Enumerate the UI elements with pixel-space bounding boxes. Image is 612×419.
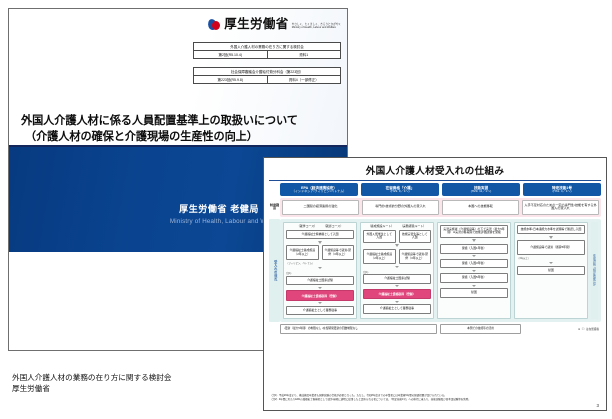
meeting-name-1: 外国人介護人材の業務の在り方に関する検討会	[194, 43, 341, 51]
purpose-row: 制度趣旨 二国間の経済連携の強化 専門的・技術的分野の外国人の受入れ 本国への技…	[269, 198, 601, 217]
scheme-subtitle: (H29. 9／1～)	[362, 190, 438, 194]
table-row: 社会保障審議会介護給付費分科会（第223回）	[194, 68, 341, 76]
purpose-row-label: 制度趣旨	[269, 198, 280, 217]
purpose-cell-kaigo-visa: 専門的・技術的分野の外国人の受入れ	[362, 200, 439, 215]
meeting-name-2: 社会保障審議会介護給付費分科会（第223回）	[194, 68, 341, 76]
page-title-line2: （介護人材の確保と介護現場の生産性の向上）	[21, 130, 337, 146]
flow-row: 受入れの流れ （就学コース） （就労コース） 介護福祉士候補者として入国 介護福…	[269, 219, 601, 323]
table-row: 第2回(R5.10.4) 資料1	[194, 51, 341, 59]
epa-course-work: （就労コース）	[323, 225, 343, 228]
meeting-meta-table-2: 社会保障審議会介護給付費分科会（第223回） 第223回(R5.9.8) 資料4…	[193, 67, 341, 84]
ssw-entry-box: 技能水準・日本語能力水準を試験等で確認し入国	[517, 225, 585, 235]
kaigo-note-ref: (注1)	[363, 270, 368, 274]
arrow-down-icon	[318, 287, 322, 289]
meeting-meta-table-1: 外国人介護人材の業務の在り方に関する検討会 第2回(R5.10.4) 資料1	[193, 42, 341, 59]
scheme-column-kaigo-visa[interactable]: 在留資格「介護」 (H29. 9／1～)	[361, 183, 439, 196]
arrow-down-icon	[395, 266, 399, 268]
mhlw-logo-en-line2: Ministry of Health, Labour and Welfare	[292, 26, 336, 29]
epa-national-exam: 介護福祉士国家試験	[286, 276, 354, 286]
diagram-body: EPA（経済連携協定） （インドネシア・フィリピン・ベトナム） 在留資格「介護」…	[269, 183, 601, 390]
epa-paths: 介護福祉士養成施設（2年以上） 介護施設等で就労・研修（3年以上）	[286, 245, 354, 260]
epa-facility-work: 介護施設等で就労・研修（3年以上）	[322, 245, 355, 260]
intern-exam-year3: 受検（入国3年後）	[440, 259, 508, 269]
kaigo-facility-work: 介護施設等で就労・研修（3年以上）	[399, 249, 432, 264]
kaigo-route-school: （養成施設ルート）	[368, 225, 394, 228]
flow-column-specified-skilled: 技能水準・日本語能力水準を試験等で確認し入国 介護施設等で就労（通算5年間） （…	[514, 222, 588, 320]
footer-caption-line1: 外国人介護人材の業務の在り方に関する検討会	[12, 372, 171, 383]
table-row: 外国人介護人材の業務の在り方に関する検討会	[194, 43, 341, 51]
meeting-session-2: 第223回(R5.9.8)	[194, 76, 268, 84]
residence-status-label-right: 在留資格「特定技能1号」	[591, 222, 598, 320]
footnote-2: （注2）4年間にわたりEPA介護福祉士候補者として就労・研修に適切に従事したと認…	[270, 398, 600, 402]
page-title-line1: 外国人介護人材に係る人員配置基準上の取扱いについて	[21, 115, 298, 127]
purpose-cell-technical-intern: 本国への技能移転	[442, 200, 519, 215]
mhlw-logo: 厚生労働省 やさしく、たくましく、きらりとかがやく Ministry of He…	[208, 18, 341, 31]
footer-caption: 外国人介護人材の業務の在り方に関する検討会 厚生労働省	[12, 372, 171, 395]
title-slide-upper-panel: 厚生労働省 やさしく、たくましく、きらりとかがやく Ministry of He…	[9, 9, 347, 145]
bottom-notes-row: ・更新（最大5年間）の制限なし ・在留期間更新の回数制限なし 本国での技能等の活…	[269, 324, 601, 333]
purpose-cell-epa: 二国間の経済連携の強化	[282, 200, 359, 215]
scheme-column-epa[interactable]: EPA（経済連携協定） （インドネシア・フィリピン・ベトナム）	[280, 183, 358, 196]
footnotes: （注1）平成29年度より、養成施設卒業者も国家試験の合格が必要となった。ただし、…	[270, 394, 600, 402]
kaigo-paths: 介護福祉士養成施設（2年以上） 介護施設等で就労・研修（3年以上）	[363, 249, 431, 264]
kaigo-route-experience: （実務経験ルート）	[400, 225, 426, 228]
kaigo-entry-intern: 技能実習生等として入国	[399, 230, 432, 243]
epa-certification-result: 介護福祉士資格取得（登録）	[286, 290, 354, 300]
organization-name-jp: 厚生労働省 老健局	[179, 202, 259, 215]
kaigo-entry-student: 外国人留学生として入国	[363, 230, 396, 243]
purpose-row-cells: 二国間の経済連携の強化 専門的・技術的分野の外国人の受入れ 本国への技能移転 人…	[280, 198, 601, 217]
epa-note-ref: (注1)	[286, 271, 291, 275]
diagram-slide[interactable]: 外国人介護人材受入れの仕組み EPA（経済連携協定） （インドネシア・フィリピン…	[263, 157, 607, 411]
bottom-note-right: ※〔 〕は在留資格	[524, 327, 601, 331]
page-number: 3	[597, 403, 599, 408]
scheme-column-technical-intern[interactable]: 技能実習 (H29. 11／1～)	[442, 183, 520, 196]
document-number-2: 資料4（一部修正）	[267, 76, 341, 84]
scheme-column-specified-skilled[interactable]: 特定技能1号 (H31. 4／1～)	[523, 183, 601, 196]
arrow-down-icon	[472, 285, 476, 287]
page-title: 外国人介護人材に係る人員配置基準上の取扱いについて （介護人材の確保と介護現場の…	[21, 114, 337, 146]
flow-column-kaigo-visa: （養成施設ルート） （実務経験ルート） 外国人留学生として入国 技能実習生等とし…	[360, 222, 434, 320]
ssw-employment-box: 介護施設等で就労（通算5年間）	[517, 240, 585, 255]
bottom-note-left: ・更新（最大5年間）の制限なし ・在留期間更新の回数制限なし	[280, 324, 437, 333]
arrow-down-icon	[549, 262, 553, 264]
scheme-subtitle: (H31. 4／1～)	[524, 190, 600, 194]
epa-country-note: （フィリピン、ベトナム）	[286, 261, 314, 265]
arrow-down-icon	[318, 267, 322, 269]
footer-caption-line2: 厚生労働省	[12, 383, 171, 394]
diagram-title: 外国人介護人材受入れの仕組み	[264, 158, 606, 180]
arrow-down-icon	[472, 270, 476, 272]
document-number-1: 資料1	[267, 51, 341, 59]
kaigo-training-school: 介護福祉士養成施設（2年以上）	[363, 249, 396, 264]
flow-columns: （就学コース） （就労コース） 介護福祉士候補者として入国 介護福祉士養成施設（…	[280, 219, 601, 323]
flow-column-technical-intern: 実習実施者（介護施設等）の下で実習（最大5年間）※実習の各段階で技能評価試験を受…	[437, 222, 511, 320]
intern-exam-year1: 受検（入国1年後）	[440, 244, 508, 254]
mhlw-emblem-icon	[208, 18, 221, 31]
arrow-down-icon	[395, 244, 399, 247]
intern-exam-year5: 受検（入国5年後）	[440, 273, 508, 283]
arrow-down-icon	[318, 302, 322, 304]
meeting-session-1: 第2回(R5.10.4)	[194, 51, 268, 59]
kaigo-final-employment: 介護福祉士として業務従事	[363, 304, 431, 314]
epa-training-school: 介護福祉士養成施設（2年以上）	[286, 245, 319, 260]
arrow-down-icon	[395, 301, 399, 303]
epa-entry-box: 介護福祉士候補者として入国	[286, 230, 354, 240]
arrow-down-icon	[472, 255, 476, 257]
arrow-down-icon	[549, 236, 553, 239]
ssw-return-home: 帰国	[517, 266, 585, 276]
arrow-down-icon	[318, 241, 322, 244]
ssw-duration-note: （3年以上）	[517, 256, 530, 260]
bottom-note-mid: 本国での技能等の活用	[440, 324, 521, 333]
arrow-down-icon	[395, 285, 399, 287]
title-divider	[269, 180, 601, 181]
scheme-subtitle: （インドネシア・フィリピン・ベトナム）	[281, 190, 357, 194]
scheme-subtitle: (H29. 11／1～)	[443, 190, 519, 194]
flow-column-epa: （就学コース） （就労コース） 介護福祉士候補者として入国 介護福祉士養成施設（…	[283, 222, 357, 320]
intern-return-home: 帰国	[440, 288, 508, 298]
scheme-column-headers: EPA（経済連携協定） （インドネシア・フィリピン・ベトナム） 在留資格「介護」…	[269, 183, 601, 196]
kaigo-entry-boxes: 外国人留学生として入国 技能実習生等として入国	[363, 230, 431, 243]
epa-course-study: （就学コース）	[297, 225, 317, 228]
flow-row-label: 受入れの流れ	[269, 219, 280, 323]
purpose-cell-specified-skilled: 人手不足対応のための一定の専門性・技能を有する外国人の受入れ	[522, 200, 599, 215]
intern-implementer-box: 実習実施者（介護施設等）の下で実習（最大5年間）※実習の各段階で技能評価試験を受…	[440, 225, 508, 238]
epa-course-headers: （就学コース） （就労コース）	[286, 225, 354, 230]
epa-final-employment: 介護福祉士として業務従事	[286, 306, 354, 316]
table-row: 第223回(R5.9.8) 資料4（一部修正）	[194, 76, 341, 84]
mhlw-logo-jp: 厚生労働省	[224, 18, 289, 31]
arrow-down-icon	[472, 239, 476, 242]
mhlw-logo-en: やさしく、たくましく、きらりとかがやく Ministry of Health, …	[292, 20, 341, 30]
kaigo-certification-result: 介護福祉士資格取得（登録）	[363, 289, 431, 299]
kaigo-national-exam: 介護福祉士国家試験	[363, 274, 431, 284]
